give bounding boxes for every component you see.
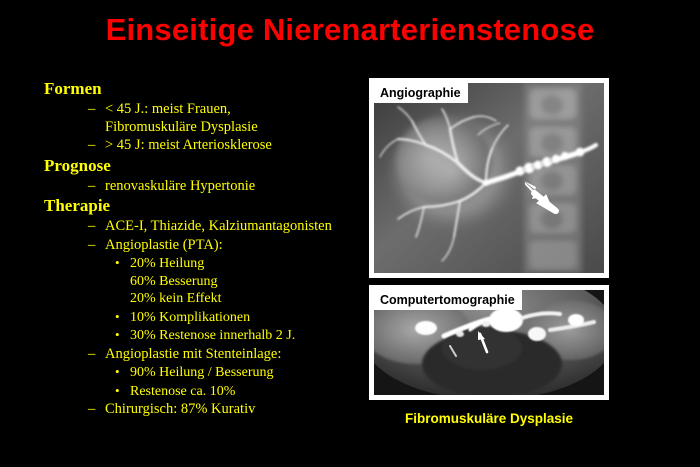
presentation-slide: Einseitige Nierenarterienstenose Formen … <box>0 0 700 467</box>
ct-panel: Computertomographie <box>369 285 609 400</box>
bullet-marker: – <box>88 237 95 255</box>
section-heading-prognose: Prognose <box>44 155 364 177</box>
list-item: • 90% Heilung / Besserung <box>44 364 364 382</box>
list-item: – > 45 J: meist Arteriosklerose <box>44 137 364 155</box>
page-title: Einseitige Nierenarterienstenose <box>0 12 700 48</box>
list-item-text: > 45 J: meist Arteriosklerose <box>105 137 272 153</box>
list-item-text: ACE-I, Thiazide, Kalziumantagonisten <box>105 218 332 234</box>
list-item-text: Angioplastie (PTA): <box>105 237 223 253</box>
list-item-text: Chirurgisch: 87% Kurativ <box>105 401 255 417</box>
list-item: – Chirurgisch: 87% Kurativ <box>44 401 364 419</box>
bullet-marker: – <box>88 218 95 236</box>
list-item-text: 10% Komplikationen <box>130 310 250 325</box>
section-heading-formen: Formen <box>44 78 364 100</box>
list-item: • 30% Restenose innerhalb 2 J. <box>44 327 364 345</box>
list-item: – ACE-I, Thiazide, Kalziumantagonisten <box>44 218 364 236</box>
list-item-text: 90% Heilung / Besserung <box>130 365 273 380</box>
bullet-marker: – <box>88 346 95 364</box>
content-column: Formen – < 45 J.: meist Frauen, Fibromus… <box>44 78 364 419</box>
list-item-text: Restenose ca. 10% <box>130 384 235 399</box>
list-item-text: 30% Restenose innerhalb 2 J. <box>130 328 295 343</box>
bullet-marker: – <box>88 178 95 196</box>
list-item: • Restenose ca. 10% <box>44 383 364 401</box>
list-item-continuation: 60% Besserung <box>130 273 364 291</box>
angiography-image <box>374 83 604 273</box>
bullet-marker: – <box>88 137 95 155</box>
list-item-continuation: Fibromuskuläre Dysplasie <box>105 119 364 137</box>
section-heading-therapie: Therapie <box>44 195 364 217</box>
list-item-text: Angioplastie mit Stenteinlage: <box>105 346 281 362</box>
bullet-marker: – <box>88 101 95 119</box>
bullet-marker: • <box>115 382 120 400</box>
list-item: – < 45 J.: meist Frauen, Fibromuskuläre … <box>44 101 364 136</box>
angiography-panel: Angiographie <box>369 78 609 278</box>
list-item: – Angioplastie (PTA): <box>44 237 364 255</box>
list-item: – renovaskuläre Hypertonie <box>44 178 364 196</box>
bullet-marker: • <box>115 363 120 381</box>
list-item-text: < 45 J.: meist Frauen, <box>105 101 231 117</box>
image-caption: Fibromuskuläre Dysplasie <box>369 411 609 426</box>
list-item: – Angioplastie mit Stenteinlage: <box>44 346 364 364</box>
list-item-text: renovaskuläre Hypertonie <box>105 178 255 194</box>
bullet-marker: • <box>115 326 120 344</box>
list-item-continuation: 20% kein Effekt <box>130 290 364 308</box>
angiography-label: Angiographie <box>374 83 468 103</box>
bullet-marker: – <box>88 401 95 419</box>
bullet-marker: • <box>115 254 120 272</box>
list-item: • 20% Heilung 60% Besserung 20% kein Eff… <box>44 255 364 308</box>
ct-label: Computertomographie <box>374 290 522 310</box>
list-item-text: 20% Heilung <box>130 256 204 271</box>
list-item: • 10% Komplikationen <box>44 309 364 327</box>
bullet-marker: • <box>115 308 120 326</box>
angiogram-graphic <box>374 83 604 273</box>
